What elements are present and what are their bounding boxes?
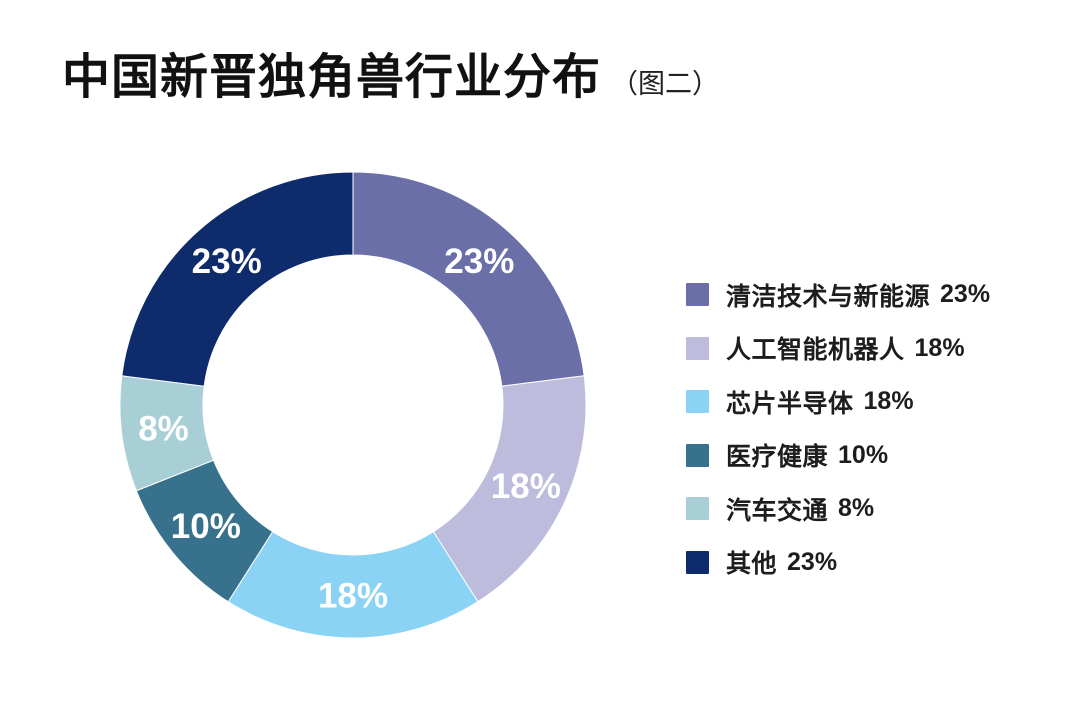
legend-item-label: 人工智能机器人 (726, 330, 905, 366)
donut-slice-value-label: 23% (444, 242, 514, 281)
legend-item-percent: 18% (915, 334, 965, 363)
donut-slice-value-label: 10% (171, 507, 241, 546)
legend-color-swatch (686, 390, 709, 413)
chart-legend: 清洁技术与新能源23%人工智能机器人18%芯片半导体18%医疗健康10%汽车交通… (686, 268, 1066, 589)
legend-item[interactable]: 人工智能机器人18% (686, 322, 1066, 376)
legend-item-label: 清洁技术与新能源 (726, 277, 930, 313)
donut-slice-value-label: 18% (491, 467, 561, 506)
legend-color-swatch (686, 283, 709, 306)
legend-item[interactable]: 汽车交通8% (686, 482, 1066, 536)
donut-slice-value-label: 18% (318, 577, 388, 616)
legend-item-label: 其他 (726, 544, 777, 580)
legend-item-percent: 23% (940, 280, 990, 309)
legend-item[interactable]: 芯片半导体18% (686, 375, 1066, 429)
donut-chart-svg: 23%18%18%10%8%23% (0, 0, 660, 710)
legend-item-percent: 18% (864, 387, 914, 416)
legend-item-percent: 10% (838, 441, 888, 470)
donut-slice-value-label: 23% (192, 242, 262, 281)
legend-item-label: 汽车交通 (726, 491, 828, 527)
donut-slices (120, 172, 586, 638)
legend-item[interactable]: 其他23% (686, 536, 1066, 590)
legend-item-percent: 23% (787, 548, 837, 577)
legend-item-label: 芯片半导体 (726, 384, 854, 420)
legend-item[interactable]: 医疗健康10% (686, 429, 1066, 483)
legend-color-swatch (686, 444, 709, 467)
legend-item-percent: 8% (838, 494, 874, 523)
donut-slice-value-label: 8% (138, 409, 189, 448)
legend-item[interactable]: 清洁技术与新能源23% (686, 268, 1066, 322)
legend-color-swatch (686, 337, 709, 360)
legend-color-swatch (686, 551, 709, 574)
legend-color-swatch (686, 497, 709, 520)
donut-chart: 23%18%18%10%8%23% (0, 0, 660, 710)
legend-item-label: 医疗健康 (726, 437, 828, 473)
